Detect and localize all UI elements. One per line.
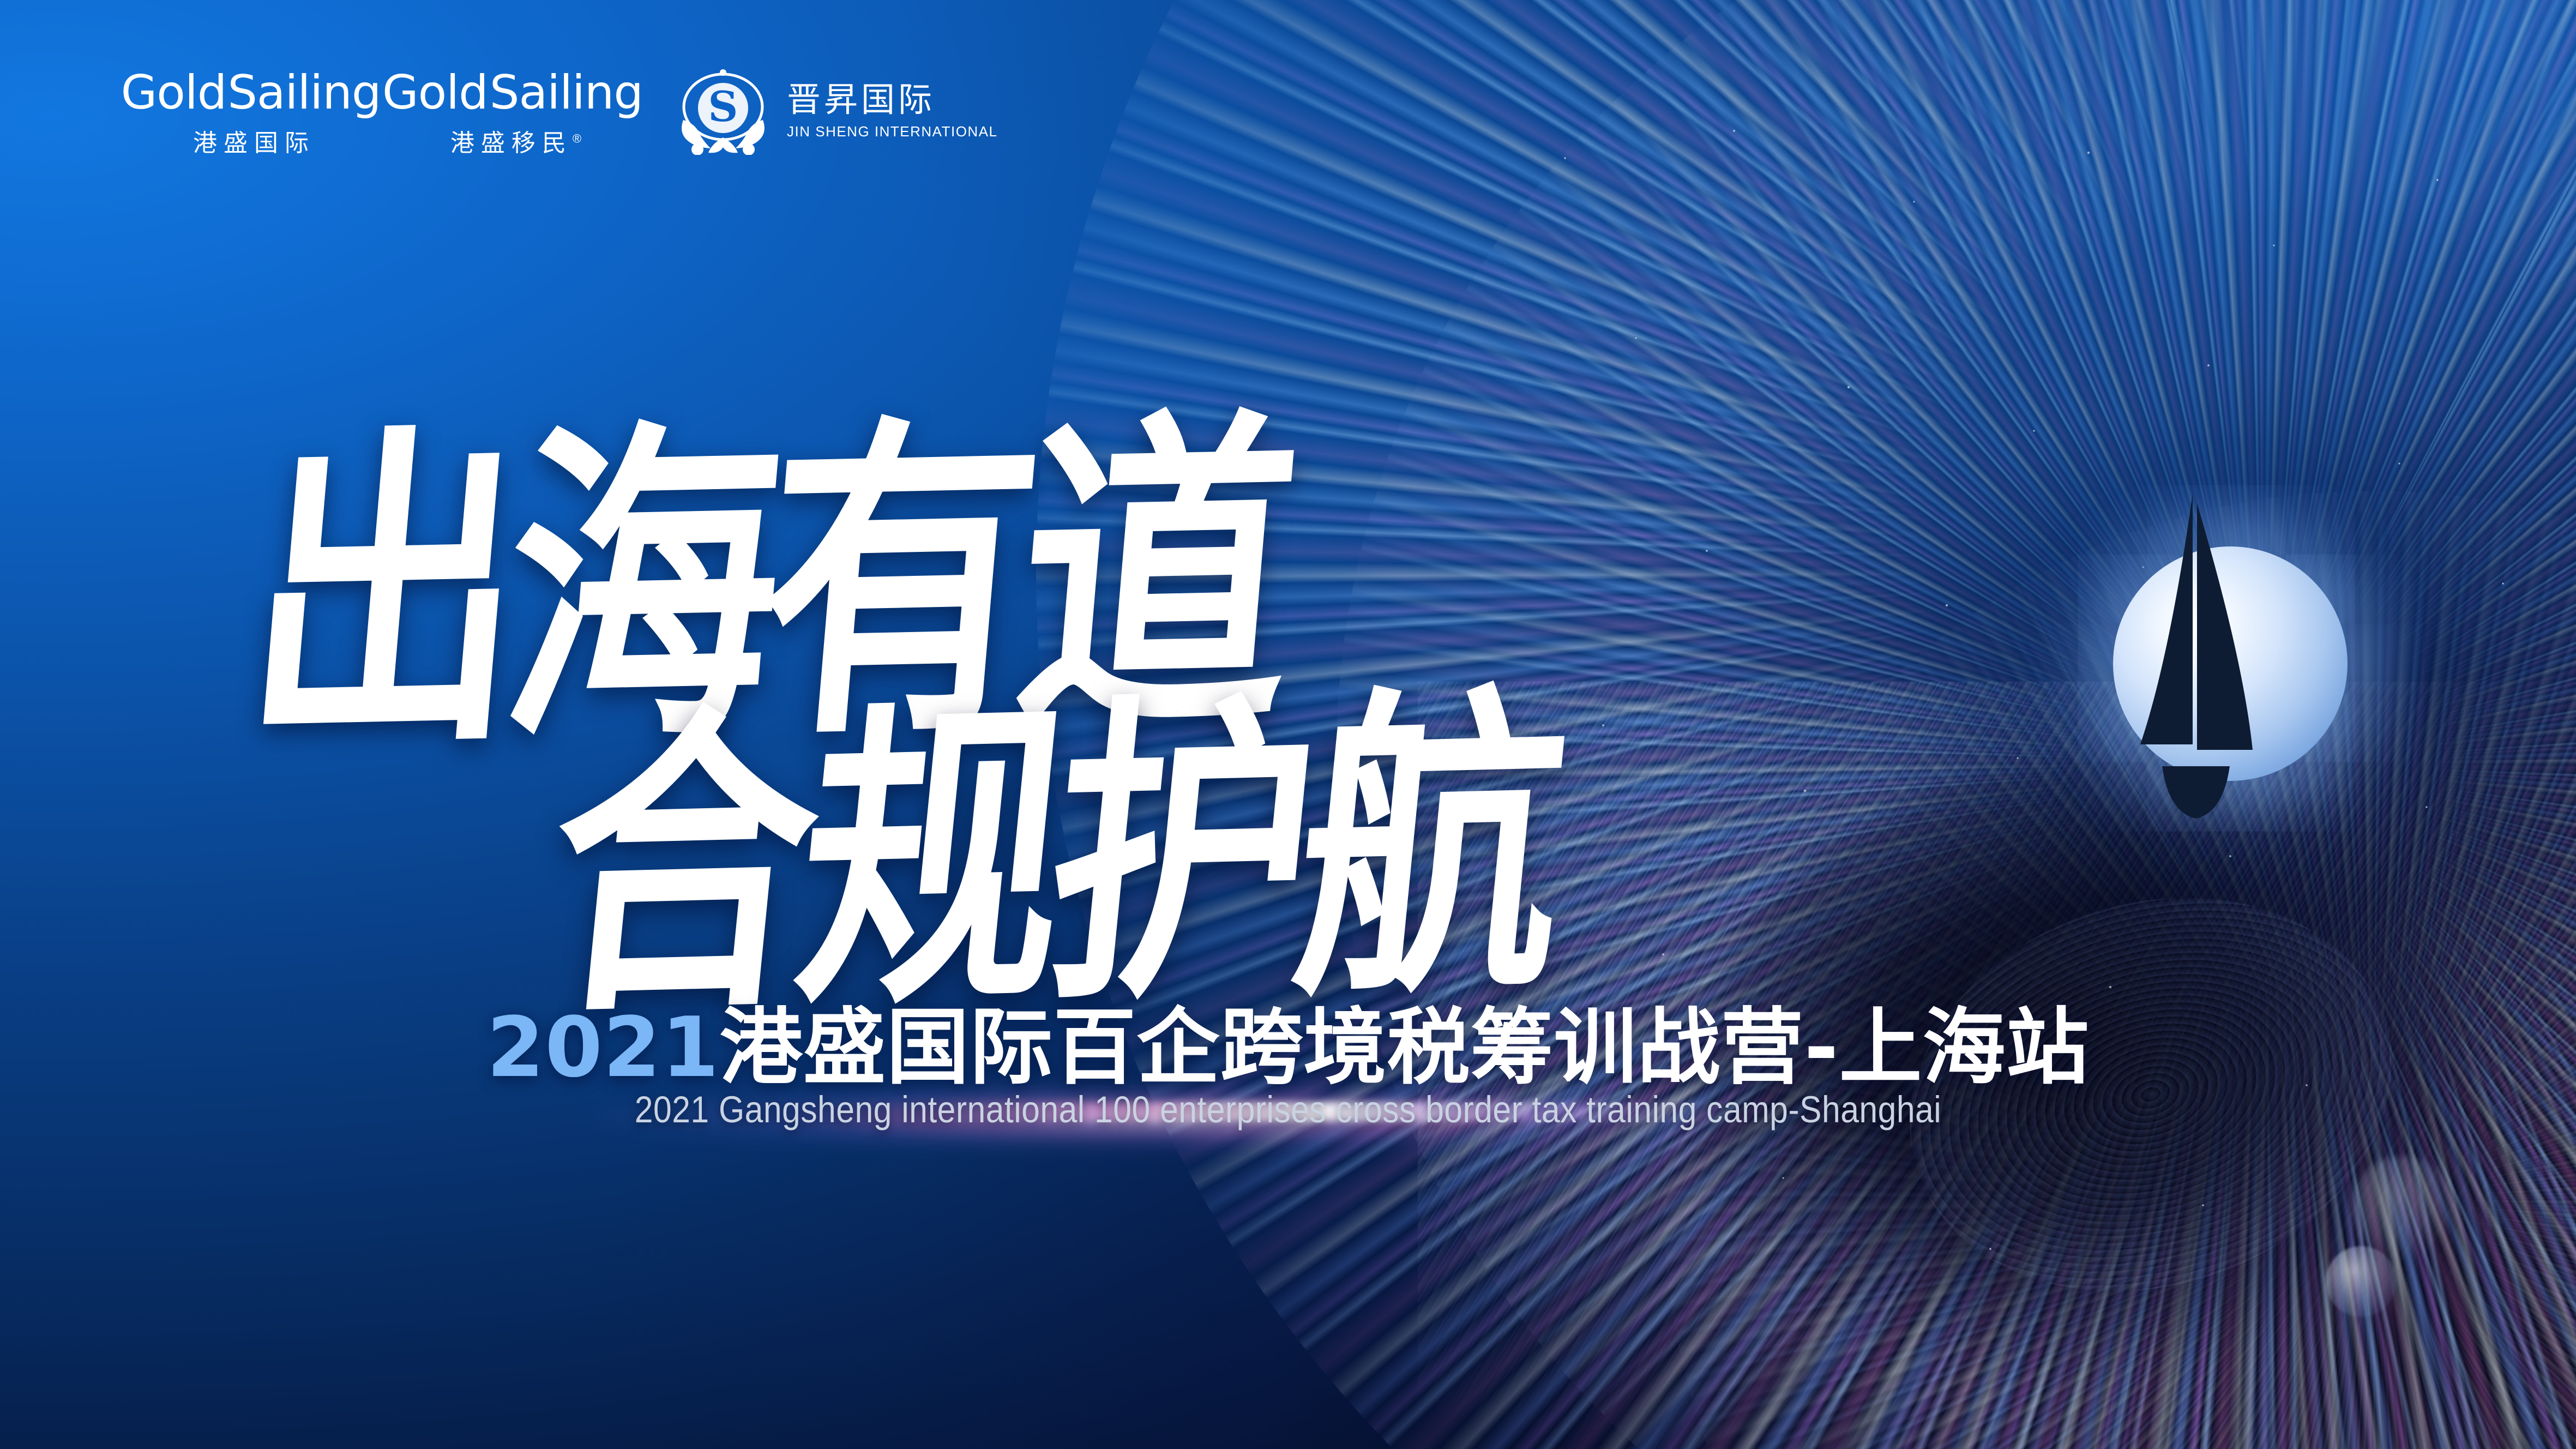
gold-sailing-word-sailing: Sailing [227,69,381,116]
orb-bubble-icon [2326,1246,2397,1317]
sailboat-silhouette-icon [2136,494,2261,832]
orb-bubble-glow [2350,1156,2454,1260]
logo-chinese-text: 港盛移民 [450,130,573,157]
gold-sailing-word-gold: Gold [382,69,488,116]
wreath-s-monogram-emblem-icon: S [672,68,774,155]
event-poster: Gold Sailing 港盛国际 Gold Sailing 港盛移民® [0,0,2576,1449]
registered-trademark-icon: ® [573,131,581,145]
subtitle-chinese: 2021港盛国际百企跨境税筹训战营-上海站 [0,1006,2576,1089]
logo-jin-sheng-international[interactable]: S 晋昇国际 JIN SHENG INTERNATIONAL [672,65,998,155]
gold-sailing-word-sailing: Sailing [490,69,643,116]
subtitle-year: 2021 [486,999,719,1096]
jin-sheng-english-name: JIN SHENG INTERNATIONAL [787,123,998,140]
gold-sailing-wordmark: Gold Sailing [382,65,643,120]
jin-sheng-chinese-name: 晋昇国际 [787,82,935,118]
logo-gold-sailing-immigration[interactable]: Gold Sailing 港盛移民® [382,65,643,158]
svg-text:S: S [708,82,738,131]
subtitle-english: 2021 Gangsheng international 100 enterpr… [154,1091,2421,1128]
gold-sailing-word-gold: Gold [121,69,227,116]
logo-chinese-name: 港盛移民® [382,123,643,158]
subtitle-chinese-text: 港盛国际百企跨境税筹训战营-上海站 [719,999,2089,1096]
jin-sheng-text-block: 晋昇国际 JIN SHENG INTERNATIONAL [787,82,998,140]
logo-bar: Gold Sailing 港盛国际 Gold Sailing 港盛移民® [123,65,998,158]
gold-sailing-wordmark: Gold Sailing [123,65,379,120]
logo-chinese-name: 港盛国际 [123,123,379,158]
logo-gold-sailing-international[interactable]: Gold Sailing 港盛国际 [123,65,379,158]
gold-sail-icon [488,64,489,115]
